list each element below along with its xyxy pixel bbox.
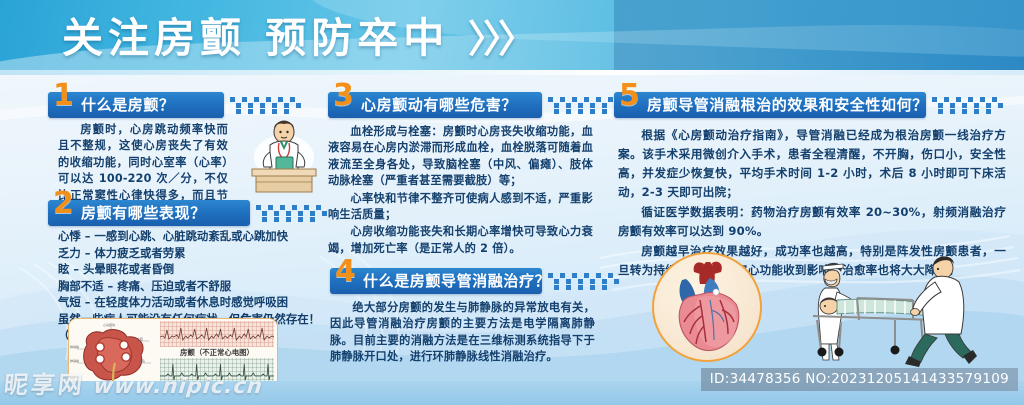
symptom-item: 气短 – 在轻度体力活动或者休息时感觉呼吸困 (58, 294, 308, 311)
id-bar: ID:34478356 NO:20231205141433579109 (701, 368, 1018, 391)
section-1-number: 1 (53, 81, 74, 111)
section-1-title-bar: 什么是房颤？ (48, 92, 224, 118)
svg-text:上腔: 上腔 (137, 336, 143, 341)
section-3-paragraph: 血栓形成与栓塞：房颤时心房丧失收缩功能，血液容易在心房内淤滞而形成血栓，血栓脱落… (328, 124, 593, 190)
symptom-item: 心悸 – 一感到心跳、心脏跳动紊乱或心跳加快 (58, 228, 308, 245)
poster-canvas: 关注房颤 预防卒中 〉〉〉 什么是房颤？ 1 房颤时，心房跳动频率快而且不整规，… (0, 0, 1024, 405)
ecg-abnormal-caption: 房颤（不正常心电图） (160, 347, 274, 358)
section-5: 房颤导管消融根治的效果和安全性如何？ 5 (614, 92, 1014, 118)
symptom-item: 胸部不适 – 疼痛、压迫或者不舒服 (58, 278, 308, 295)
svg-text:肺静脉: 肺静脉 (70, 344, 79, 349)
watermark-brand: 昵享网 (3, 371, 87, 399)
svg-text:左房: 左房 (139, 358, 145, 363)
section-5-header: 房颤导管消融根治的效果和安全性如何？ 5 (614, 92, 1014, 118)
section-2-title-bar: 房颤有哪些表现？ (48, 200, 250, 226)
symptom-item: 乏力 – 体力疲乏或者劳累 (58, 245, 308, 262)
section-1-title: 什么是房颤？ (81, 92, 175, 118)
section-4-header: 什么是房颤导管消融治疗？ 4 (330, 268, 620, 294)
svg-text:心房颤动: 心房颤动 (103, 322, 115, 327)
section-5-number: 5 (619, 81, 640, 111)
banner-arrows-icon: 〉〉〉 (468, 10, 532, 68)
section-4-paragraph: 绝大部分房颤的发生与肺静脉的异常放电有关，因此导管消融治疗房颤的主要方法是电学隔… (330, 300, 595, 366)
banner-underline (0, 70, 1024, 75)
section-3-body: 血栓形成与栓塞：房颤时心房丧失收缩功能，血液容易在心房内淤滞而形成血栓，血栓脱落… (328, 124, 593, 258)
section-3-title: 心房颤动有哪些危害？ (361, 92, 517, 118)
svg-text:肺静脉: 肺静脉 (70, 358, 79, 363)
section-5-checker-dots (932, 95, 1010, 115)
section-2-checker-dots (256, 203, 334, 223)
heart-illustration (652, 252, 762, 362)
section-2: 房颤有哪些表现？ 2 (48, 200, 308, 226)
section-2-title: 房颤有哪些表现？ (81, 200, 206, 226)
section-2-header: 房颤有哪些表现？ 2 (48, 200, 308, 226)
medical-staff-gurney-illustration (795, 248, 1010, 368)
section-5-title: 房颤导管消融根治的效果和安全性如何？ (647, 92, 928, 118)
section-3: 心房颤动有哪些危害？ 3 (328, 92, 618, 118)
section-4-checker-dots (548, 271, 626, 291)
ecg-abnormal-trace (160, 321, 274, 347)
section-3-header: 心房颤动有哪些危害？ 3 (328, 92, 618, 118)
section-2-number: 2 (53, 189, 74, 219)
section-5-paragraph: 根据《心房颤动治疗指南》，导管消融已经成为根治房颤一线治疗方案。该手术采用微创介… (618, 126, 1006, 202)
symptom-item: 眩 – 头晕眼花或者昏倒 (58, 261, 308, 278)
page-title: 关注房颤 预防卒中 (62, 8, 449, 68)
section-5-paragraph: 循证医学数据表明：药物治疗房颤有效率 20~30%，射频消融治疗房颤有效率可以达… (618, 203, 1006, 241)
doctor-at-desk-icon (236, 112, 332, 196)
section-3-paragraph: 心率快和节律不整齐可使病人感到不适，严重影响生活质量； (328, 191, 593, 224)
poster-banner: 关注房颤 预防卒中 〉〉〉 (0, 0, 1024, 74)
section-5-title-bar: 房颤导管消融根治的效果和安全性如何？ (614, 92, 926, 118)
section-4-title: 什么是房颤导管消融治疗？ (363, 268, 550, 294)
watermark-url: www.nipic.cn (93, 374, 265, 398)
section-4-title-bar: 什么是房颤导管消融治疗？ (330, 268, 542, 294)
section-4-body: 绝大部分房颤的发生与肺静脉的异常放电有关，因此导管消融治疗房颤的主要方法是电学隔… (330, 300, 595, 367)
section-4-number: 4 (335, 257, 356, 287)
section-3-number: 3 (333, 81, 354, 111)
section-3-paragraph: 心房收缩功能丧失和长期心率增快可导致心力衰竭，增加死亡率（是正常人的 2 倍）。 (328, 224, 593, 257)
watermark-left: 昵享网 www.nipic.cn (2, 370, 245, 400)
section-3-title-bar: 心房颤动有哪些危害？ (328, 92, 542, 118)
section-4: 什么是房颤导管消融治疗？ 4 (330, 268, 620, 294)
